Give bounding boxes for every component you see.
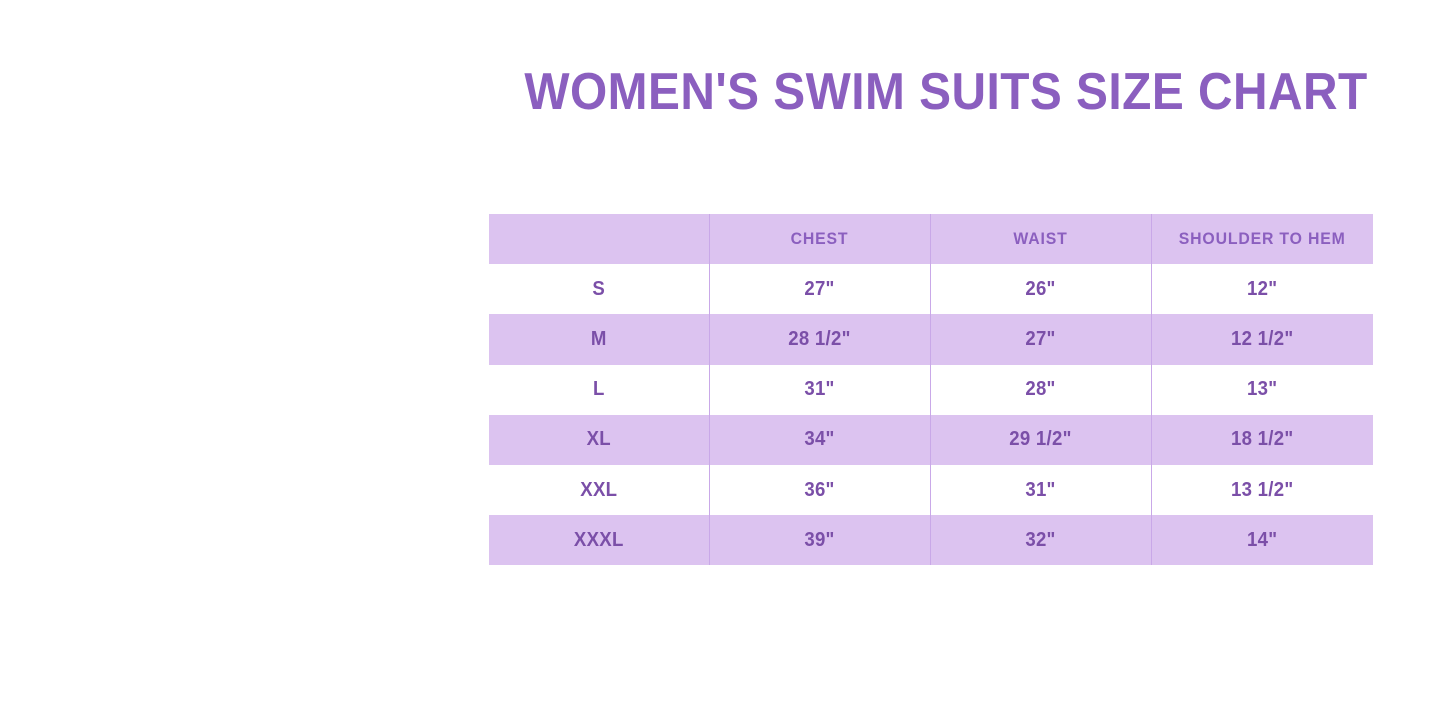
cell-waist: 26" bbox=[938, 264, 1144, 314]
cell-waist: 32" bbox=[938, 515, 1144, 565]
column-header-size bbox=[497, 214, 702, 264]
cell-size: M bbox=[497, 314, 702, 364]
cell-waist: 31" bbox=[938, 465, 1144, 515]
size-chart-page: WOMEN'S SWIM SUITS SIZE CHART CHEST WAIS… bbox=[0, 0, 1445, 723]
table-row: XL 34" 29 1/2" 18 1/2" bbox=[489, 415, 1373, 465]
column-header-shoulder-to-hem: SHOULDER TO HEM bbox=[1159, 214, 1365, 264]
cell-shoulder-to-hem: 14" bbox=[1159, 515, 1365, 565]
cell-shoulder-to-hem: 13" bbox=[1159, 365, 1365, 415]
cell-size: XL bbox=[497, 415, 702, 465]
cell-waist: 28" bbox=[938, 365, 1144, 415]
cell-size: XXL bbox=[497, 465, 702, 515]
table-row: XXL 36" 31" 13 1/2" bbox=[489, 465, 1373, 515]
column-header-waist: WAIST bbox=[938, 214, 1144, 264]
table-row: XXXL 39" 32" 14" bbox=[489, 515, 1373, 565]
cell-chest: 31" bbox=[717, 365, 923, 415]
table-header-row: CHEST WAIST SHOULDER TO HEM bbox=[489, 214, 1373, 264]
size-chart-table: CHEST WAIST SHOULDER TO HEM S 27" 26" 12… bbox=[489, 214, 1373, 565]
table-row: S 27" 26" 12" bbox=[489, 264, 1373, 314]
cell-chest: 27" bbox=[717, 264, 923, 314]
cell-shoulder-to-hem: 12" bbox=[1159, 264, 1365, 314]
cell-shoulder-to-hem: 13 1/2" bbox=[1159, 465, 1365, 515]
cell-chest: 34" bbox=[717, 415, 923, 465]
cell-chest: 36" bbox=[717, 465, 923, 515]
table-row: M 28 1/2" 27" 12 1/2" bbox=[489, 314, 1373, 364]
cell-size: S bbox=[497, 264, 702, 314]
cell-waist: 27" bbox=[938, 314, 1144, 364]
column-header-chest: CHEST bbox=[717, 214, 923, 264]
cell-size: XXXL bbox=[497, 515, 702, 565]
cell-shoulder-to-hem: 12 1/2" bbox=[1159, 314, 1365, 364]
cell-shoulder-to-hem: 18 1/2" bbox=[1159, 415, 1365, 465]
table-header: CHEST WAIST SHOULDER TO HEM bbox=[489, 214, 1373, 264]
table-row: L 31" 28" 13" bbox=[489, 365, 1373, 415]
cell-chest: 28 1/2" bbox=[717, 314, 923, 364]
table-body: S 27" 26" 12" M 28 1/2" 27" 12 1/2" L 31… bbox=[489, 264, 1373, 565]
cell-chest: 39" bbox=[717, 515, 923, 565]
cell-waist: 29 1/2" bbox=[938, 415, 1144, 465]
cell-size: L bbox=[497, 365, 702, 415]
page-title: WOMEN'S SWIM SUITS SIZE CHART bbox=[524, 62, 1337, 122]
